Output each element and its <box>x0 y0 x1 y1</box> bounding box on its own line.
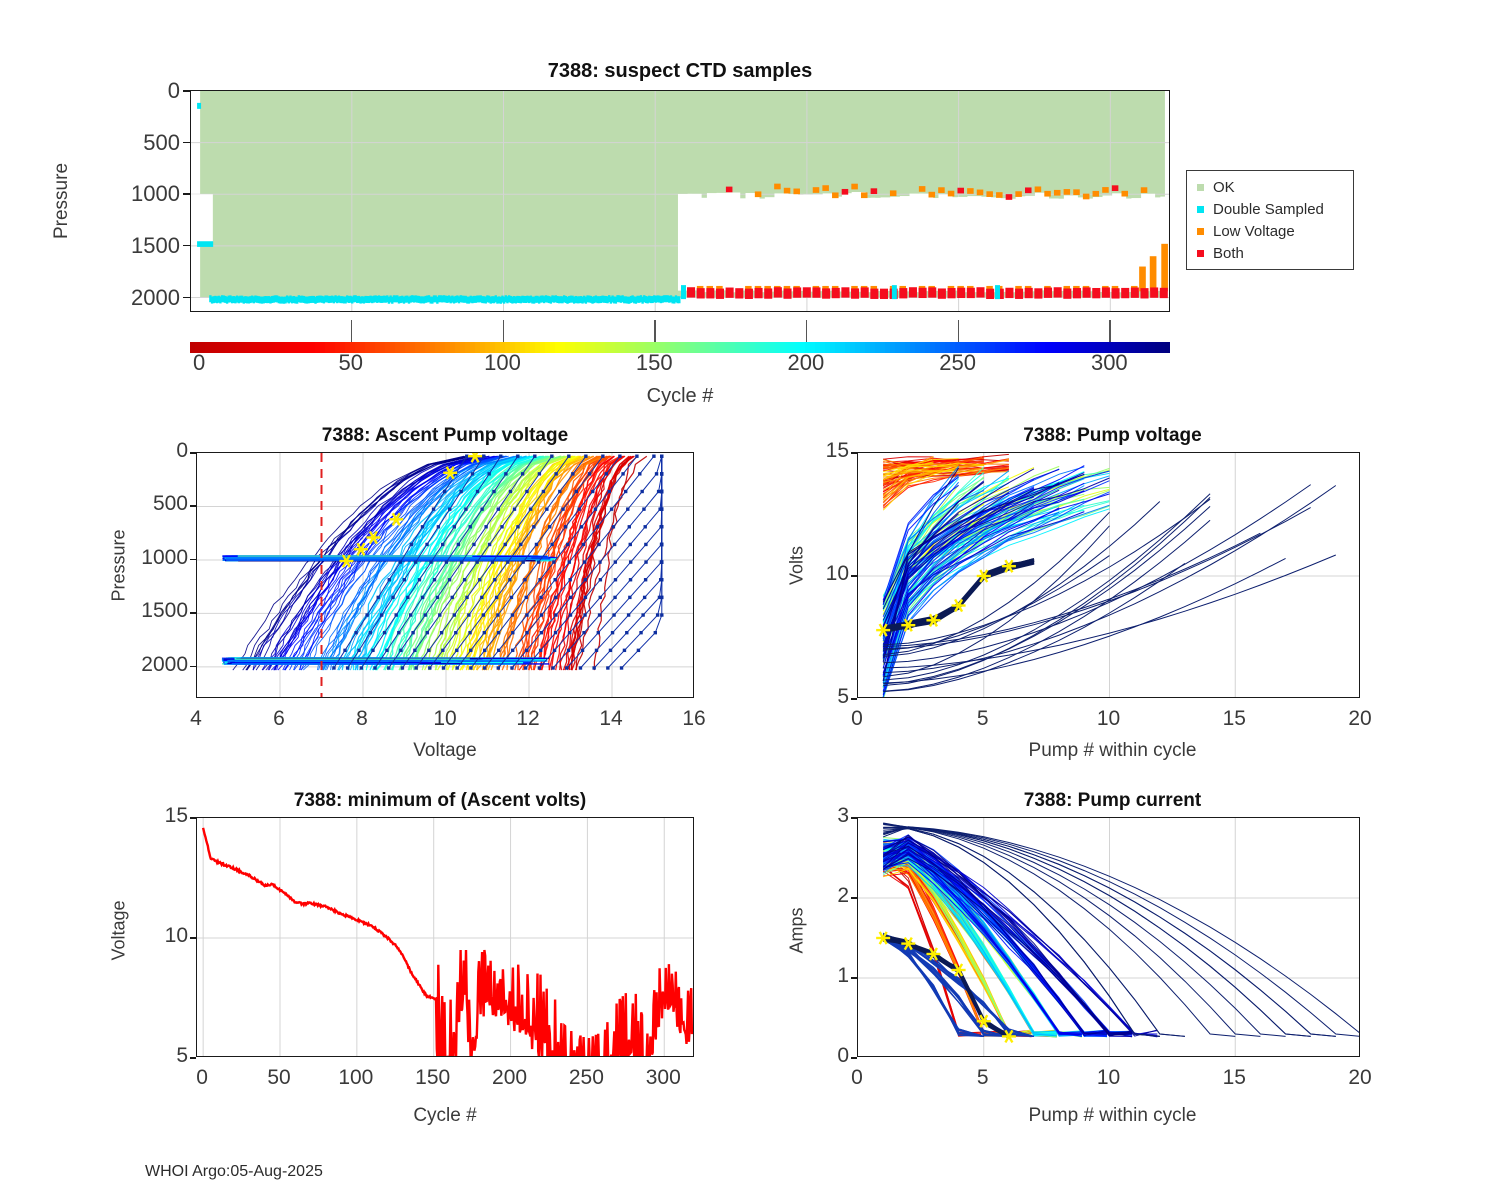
colorbar-segment <box>560 342 566 353</box>
colorbar-segment <box>850 342 856 353</box>
colorbar-segment <box>740 342 746 353</box>
colorbar-segment <box>240 342 246 353</box>
colorbar-segment <box>600 342 606 353</box>
apv-svg-xtick-6: 6 <box>239 707 319 731</box>
colorbar-segment <box>565 342 571 353</box>
colorbar-segment <box>400 342 406 353</box>
colorbar-segment <box>245 342 251 353</box>
legend-swatch-ok <box>1197 184 1204 191</box>
colorbar-segment <box>405 342 411 353</box>
min-ascent-volts-trace <box>203 828 692 1057</box>
colorbar-segment <box>445 342 451 353</box>
double-sampled-point <box>995 285 1000 299</box>
colorbar-segment <box>730 342 736 353</box>
pump-voltage-plot-area[interactable] <box>857 452 1360 698</box>
min-ascent-volts-xlabel: Cycle # <box>195 1105 695 1127</box>
colorbar-segment <box>755 342 761 353</box>
colorbar-segment <box>865 342 871 353</box>
colorbar-segment <box>885 342 891 353</box>
suspect-ctd-xtick-50: 50 <box>311 350 391 376</box>
colorbar-segment <box>605 342 611 353</box>
pump-voltage-xlabel: Pump # within cycle <box>865 740 1360 762</box>
colorbar-segment <box>390 342 396 353</box>
pc-svg-xtick-10: 10 <box>1069 1066 1149 1090</box>
colorbar-segment <box>1020 342 1026 353</box>
double-sampled-point <box>681 285 686 299</box>
suspect-ctd-xtick-300: 300 <box>1069 350 1149 376</box>
ytick-mark <box>190 817 196 819</box>
legend-item-ok[interactable]: OK <box>1193 176 1347 198</box>
colorbar-segment <box>425 342 431 353</box>
colorbar-segment <box>1000 342 1006 353</box>
colorbar-segment <box>905 342 911 353</box>
apv-svg-ytick-2000: 2000 <box>102 653 188 677</box>
suspect-ctd-plot-area[interactable] <box>190 90 1170 312</box>
colorbar-segment <box>580 342 586 353</box>
colorbar-segment <box>265 342 271 353</box>
legend-item-both[interactable]: Both <box>1193 242 1347 264</box>
colorbar-segment <box>715 342 721 353</box>
colorbar-segment <box>745 342 751 353</box>
apv-svg-xtick-12: 12 <box>488 707 568 731</box>
pv-svg-xtick-0: 0 <box>817 707 897 731</box>
colorbar-segment <box>735 342 741 353</box>
colorbar-segment <box>900 342 906 353</box>
colorbar-segment <box>1165 342 1170 353</box>
ytick-mark <box>851 897 857 899</box>
ytick-mark <box>190 666 196 668</box>
colorbar-segment <box>550 342 556 353</box>
colorbar-segment <box>430 342 436 353</box>
colorbar-segment <box>455 342 461 353</box>
figure-footer: WHOI Argo:05-Aug-2025 <box>145 1163 323 1181</box>
min-ascent-volts-svg <box>197 818 694 1057</box>
suspect-ctd-ylabel: Pressure <box>51 131 73 271</box>
colorbar-segment <box>1010 342 1016 353</box>
colorbar-segment <box>450 342 456 353</box>
colorbar-segment <box>260 342 266 353</box>
suspect-ctd-svg <box>191 91 1170 312</box>
pc-svg-xtick-20: 20 <box>1320 1066 1400 1090</box>
colorbar-segment <box>545 342 551 353</box>
suspect-ctd-ytick-0: 0 <box>102 78 180 104</box>
colorbar-segment <box>1015 342 1021 353</box>
colorbar-segment <box>555 342 561 353</box>
double-sampled-surface <box>197 103 201 109</box>
pc-svg-xtick-5: 5 <box>943 1066 1023 1090</box>
colorbar-segment <box>1025 342 1031 353</box>
ytick-mark <box>183 245 190 247</box>
colorbar-segment <box>1060 342 1066 353</box>
ytick-mark <box>851 817 857 819</box>
colorbar-segment <box>855 342 861 353</box>
colorbar-segment <box>720 342 726 353</box>
mav-svg-xtick-0: 0 <box>162 1066 242 1090</box>
colorbar-segment <box>700 342 706 353</box>
gap-columns <box>678 192 1170 292</box>
apv-svg-ytick-0: 0 <box>102 439 188 463</box>
ytick-mark <box>851 977 857 979</box>
colorbar-segment <box>270 342 276 353</box>
legend-label-low-voltage: Low Voltage <box>1213 223 1295 240</box>
ytick-mark <box>190 559 196 561</box>
mav-svg-xtick-100: 100 <box>316 1066 396 1090</box>
colorbar-tick <box>654 320 656 342</box>
ytick-mark <box>190 937 196 939</box>
colorbar-segment <box>875 342 881 353</box>
apv-svg-ytick-1000: 1000 <box>102 546 188 570</box>
suspect-ctd-xtick-150: 150 <box>614 350 694 376</box>
colorbar-segment <box>1160 342 1166 353</box>
ascent-pump-voltage-title: 7388: Ascent Pump voltage <box>195 425 695 447</box>
colorbar-segment <box>750 342 756 353</box>
apv-svg-xtick-14: 14 <box>571 707 651 731</box>
colorbar-segment <box>860 342 866 353</box>
suspect-ctd-xtick-200: 200 <box>766 350 846 376</box>
double-sampled-shallow <box>197 241 213 247</box>
colorbar-tick <box>958 320 960 342</box>
legend-item-low-voltage[interactable]: Low Voltage <box>1193 220 1347 242</box>
colorbar-segment <box>1040 342 1046 353</box>
ytick-mark <box>851 698 857 700</box>
apv-svg-ytick-1500: 1500 <box>102 599 188 623</box>
double-sampled-trace <box>209 295 680 304</box>
ytick-mark <box>183 142 190 144</box>
colorbar-segment <box>590 342 596 353</box>
suspect-ctd-xlabel: Cycle # <box>190 385 1170 408</box>
colorbar-segment <box>250 342 256 353</box>
pv-svg-xtick-5: 5 <box>943 707 1023 731</box>
pc-svg-ytick-1: 1 <box>803 964 849 988</box>
colorbar-tick <box>351 320 353 342</box>
pump-current-plot-area[interactable] <box>857 817 1360 1057</box>
colorbar-segment <box>705 342 711 353</box>
apv-svg-ytick-500: 500 <box>102 492 188 516</box>
colorbar-segment <box>1030 342 1036 353</box>
colorbar-tick <box>806 320 808 342</box>
ytick-mark <box>851 575 857 577</box>
colorbar-segment <box>1005 342 1011 353</box>
pump-current-title: 7388: Pump current <box>865 790 1360 812</box>
suspect-ctd-xtick-100: 100 <box>463 350 543 376</box>
mav-svg-xtick-300: 300 <box>623 1066 703 1090</box>
colorbar-segment <box>1155 342 1161 353</box>
pv-svg-xtick-10: 10 <box>1069 707 1149 731</box>
pump-current-xlabel: Pump # within cycle <box>865 1105 1360 1127</box>
pv-svg-ytick-5: 5 <box>793 685 849 709</box>
colorbar-segment <box>880 342 886 353</box>
colorbar-segment <box>575 342 581 353</box>
colorbar-segment <box>300 342 306 353</box>
mav-svg-xtick-200: 200 <box>470 1066 550 1090</box>
colorbar-segment <box>395 342 401 353</box>
colorbar-segment <box>1035 342 1041 353</box>
pv-svg-ytick-10: 10 <box>793 562 849 586</box>
pv-svg-xtick-20: 20 <box>1320 707 1400 731</box>
apv-svg-xtick-8: 8 <box>322 707 402 731</box>
colorbar-segment <box>1055 342 1061 353</box>
ytick-mark <box>190 505 196 507</box>
ytick-mark <box>851 452 857 454</box>
colorbar-segment <box>910 342 916 353</box>
suspect-ctd-legend: OK Double Sampled Low Voltage Both <box>1186 170 1354 270</box>
mav-svg-xtick-250: 250 <box>546 1066 626 1090</box>
ascent-pump-voltage-xlabel: Voltage <box>195 740 695 762</box>
legend-label-both: Both <box>1213 245 1244 262</box>
pc-svg-ytick-3: 3 <box>803 804 849 828</box>
mav-svg-xtick-50: 50 <box>239 1066 319 1090</box>
ytick-mark <box>190 1057 196 1059</box>
apv-svg-xtick-10: 10 <box>405 707 485 731</box>
colorbar-segment <box>595 342 601 353</box>
early-gap <box>191 194 213 245</box>
pv-svg-ytick-15: 15 <box>793 439 849 463</box>
suspect-ctd-ytick-1000: 1000 <box>102 181 180 207</box>
double-sampled-point <box>892 285 897 299</box>
colorbar-segment <box>285 342 291 353</box>
colorbar-segment <box>570 342 576 353</box>
colorbar-segment <box>1045 342 1051 353</box>
legend-swatch-low-voltage <box>1197 228 1204 235</box>
colorbar-segment <box>725 342 731 353</box>
pump-current-svg <box>858 818 1360 1057</box>
pc-svg-ytick-0: 0 <box>803 1044 849 1068</box>
ytick-mark <box>183 90 190 92</box>
pc-svg-ytick-2: 2 <box>803 884 849 908</box>
colorbar-tick <box>1109 320 1111 342</box>
pump-voltage-svg <box>858 453 1360 698</box>
ytick-mark <box>183 193 190 195</box>
colorbar-segment <box>420 342 426 353</box>
apv-svg-xtick-4: 4 <box>156 707 236 731</box>
ascent-pump-voltage-plot-area[interactable] <box>196 452 694 698</box>
mav-svg-xtick-150: 150 <box>393 1066 473 1090</box>
colorbar-segment <box>895 342 901 353</box>
mav-svg-ytick-10: 10 <box>132 924 188 948</box>
colorbar-segment <box>1050 342 1056 353</box>
ascent-pump-voltage-svg <box>197 453 694 698</box>
colorbar-segment <box>415 342 421 353</box>
min-ascent-volts-ylabel: Voltage <box>109 861 130 1001</box>
suspect-ctd-title: 7388: suspect CTD samples <box>190 60 1170 83</box>
apv-svg-xtick-16: 16 <box>654 707 734 731</box>
mav-svg-ytick-15: 15 <box>132 804 188 828</box>
colorbar-segment <box>760 342 766 353</box>
colorbar-segment <box>410 342 416 353</box>
pc-svg-xtick-15: 15 <box>1194 1066 1274 1090</box>
ytick-mark <box>851 1057 857 1059</box>
colorbar-segment <box>870 342 876 353</box>
mav-svg-ytick-5: 5 <box>132 1044 188 1068</box>
min-ascent-volts-title: 7388: minimum of (Ascent volts) <box>180 790 700 812</box>
pump-current-traces <box>883 823 1360 1037</box>
ytick-mark <box>190 452 196 454</box>
colorbar-segment <box>275 342 281 353</box>
colorbar-segment <box>440 342 446 353</box>
legend-item-double-sampled[interactable]: Double Sampled <box>1193 198 1347 220</box>
legend-swatch-both <box>1197 250 1204 257</box>
legend-label-double-sampled: Double Sampled <box>1213 201 1324 218</box>
pc-svg-xtick-0: 0 <box>817 1066 897 1090</box>
colorbar-segment <box>890 342 896 353</box>
figure-canvas: 7388: suspect CTD samples Pressure Cycle… <box>0 0 1500 1200</box>
pump-voltage-title: 7388: Pump voltage <box>865 425 1360 447</box>
colorbar-segment <box>280 342 286 353</box>
ytick-mark <box>190 612 196 614</box>
colorbar-segment <box>1150 342 1156 353</box>
suspect-ctd-ytick-500: 500 <box>102 130 180 156</box>
colorbar-segment <box>710 342 716 353</box>
colorbar-segment <box>585 342 591 353</box>
ytick-mark <box>183 297 190 299</box>
suspect-ctd-xtick-250: 250 <box>918 350 998 376</box>
suspect-ctd-xtick-0: 0 <box>159 350 239 376</box>
legend-label-ok: OK <box>1213 179 1235 196</box>
suspect-ctd-ytick-2000: 2000 <box>102 285 180 311</box>
colorbar-tick <box>503 320 505 342</box>
suspect-ctd-ytick-1500: 1500 <box>102 233 180 259</box>
colorbar-segment <box>695 342 701 353</box>
colorbar-segment <box>305 342 311 353</box>
pv-svg-xtick-15: 15 <box>1194 707 1274 731</box>
colorbar-segment <box>255 342 261 353</box>
legend-swatch-double-sampled <box>1197 206 1204 213</box>
min-ascent-volts-plot-area[interactable] <box>196 817 694 1057</box>
colorbar-segment <box>435 342 441 353</box>
colorbar-segment <box>295 342 301 353</box>
colorbar-segment <box>290 342 296 353</box>
